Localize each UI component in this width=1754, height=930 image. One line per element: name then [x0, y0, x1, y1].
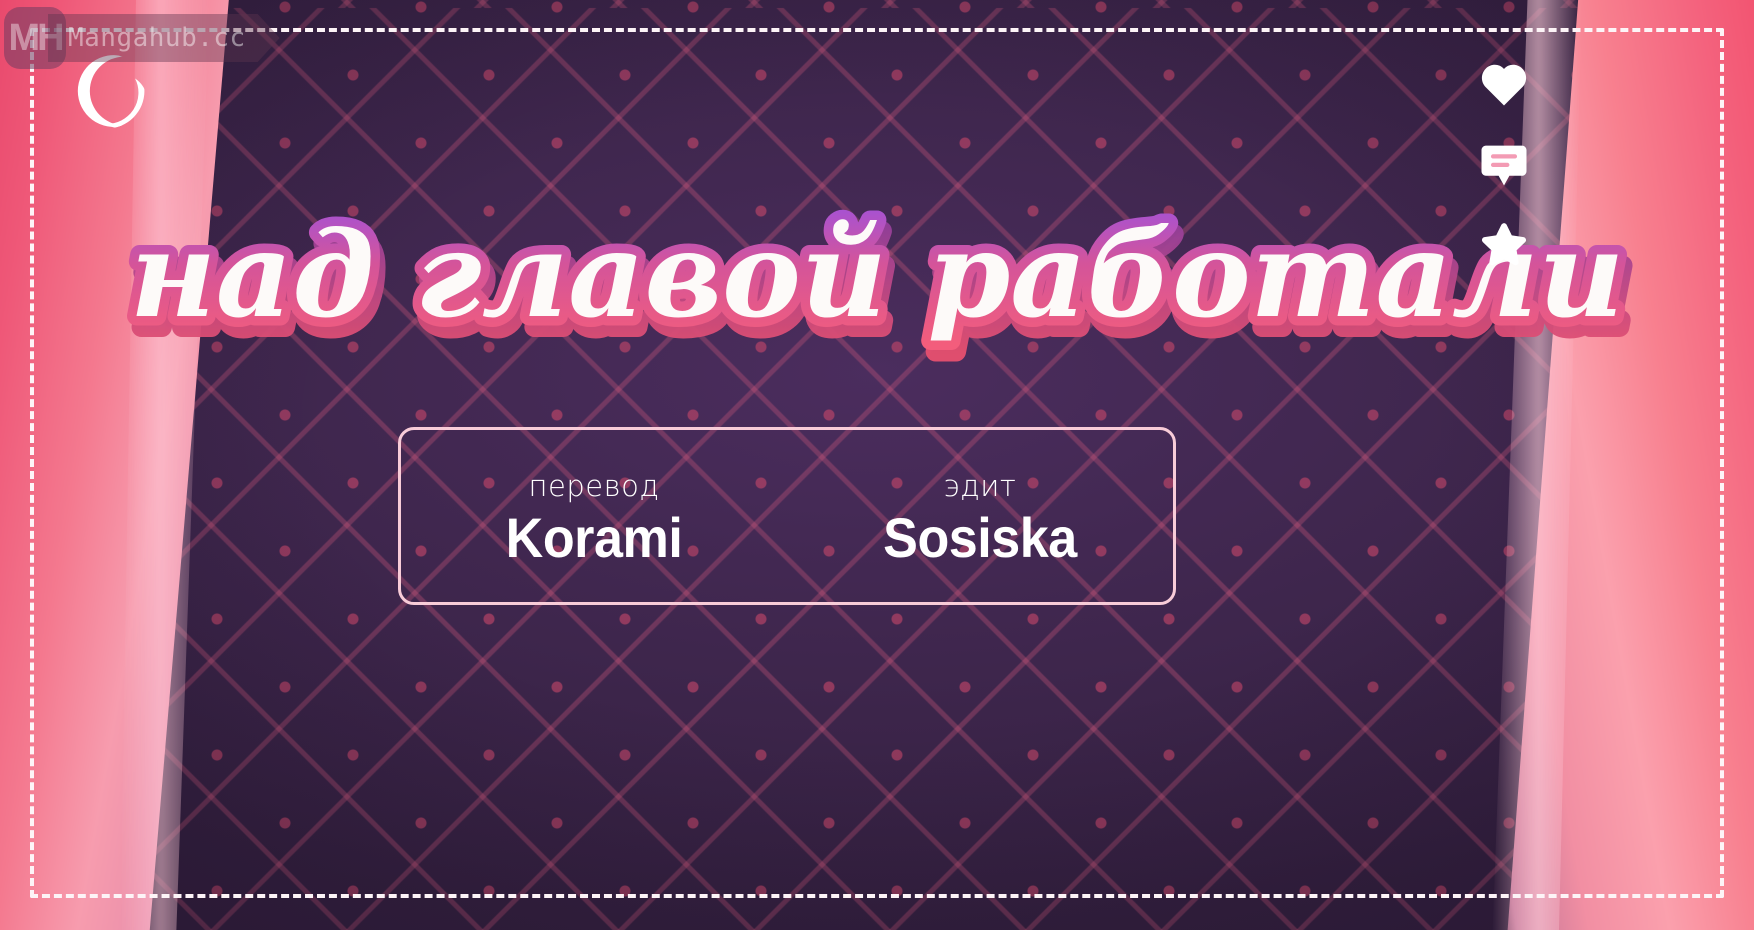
credit-role-label: эдит [787, 472, 1173, 501]
crescent-moon-icon [68, 52, 146, 130]
title-label: над главой работали [130, 205, 1624, 344]
credits-box: перевод Korami эдит Sosiska [398, 427, 1176, 605]
credits-page: MH Mangahub.cc [0, 0, 1754, 930]
star-icon[interactable] [1477, 218, 1531, 272]
action-icon-rail [1472, 58, 1536, 272]
watermark-plate: Mangahub.cc [48, 14, 280, 62]
credit-column-translation: перевод Korami [401, 464, 787, 568]
credit-role-label: перевод [401, 472, 787, 501]
credit-name-value: Korami [415, 509, 774, 568]
credit-column-edit: эдит Sosiska [787, 464, 1173, 568]
watermark-site-label: Mangahub.cc [68, 23, 246, 53]
credit-name-value: Sosiska [801, 509, 1160, 568]
watermark: MH Mangahub.cc [0, 14, 280, 62]
heart-icon[interactable] [1477, 58, 1531, 112]
comment-icon[interactable] [1477, 138, 1531, 192]
title-graphic: над главой работали над главой работали … [362, 208, 1392, 358]
